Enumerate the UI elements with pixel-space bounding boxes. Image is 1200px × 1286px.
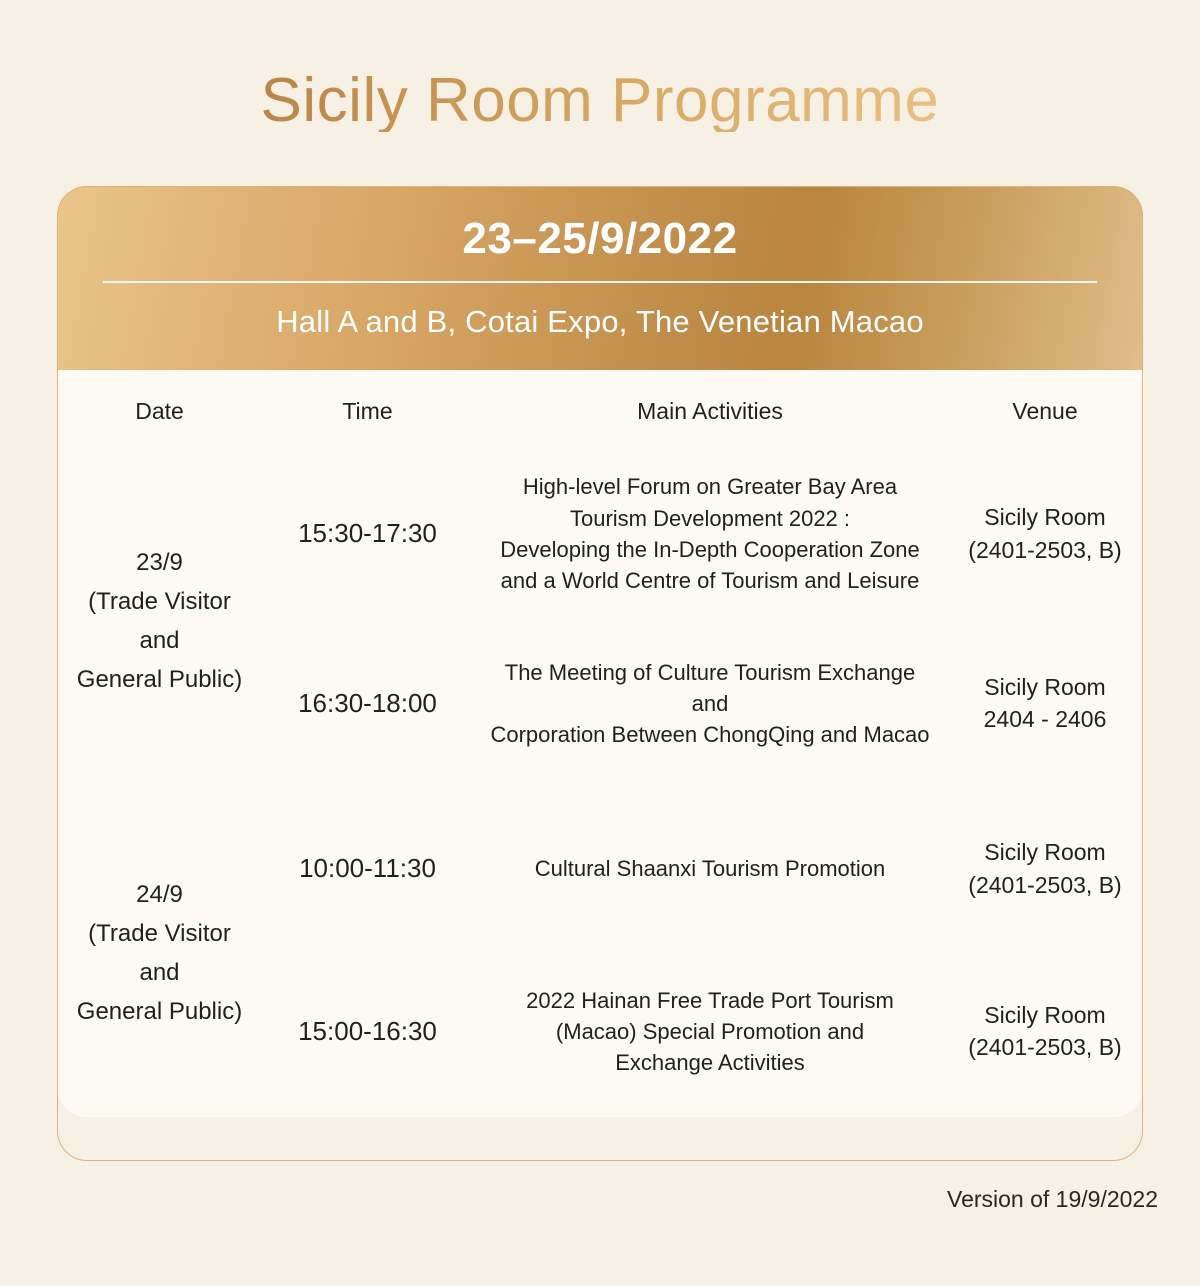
cell-time: 15:30-17:30 — [262, 452, 474, 615]
venue-number: (2401-2503, B) — [955, 869, 1135, 902]
column-header-date: Date — [58, 370, 262, 452]
date-note-line2: and — [66, 954, 253, 993]
table-header-row: Date Time Main Activities Venue — [58, 370, 1144, 452]
activity-line: Developing the In-Depth Cooperation Zone — [490, 534, 930, 565]
venue-name: Sicily Room — [955, 836, 1135, 869]
venue-name: Sicily Room — [955, 671, 1135, 704]
venue-name: Sicily Room — [955, 501, 1135, 534]
activity-line: Tourism Development 2022 : — [490, 503, 930, 534]
schedule-table: Date Time Main Activities Venue 23/9 (Tr… — [57, 370, 1144, 1117]
cell-activity: Cultural Shaanxi Tourism Promotion — [474, 791, 947, 946]
date-day: 23/9 — [66, 544, 253, 583]
date-note-line2: and — [66, 622, 253, 661]
activity-line: 2022 Hainan Free Trade Port Tourism — [490, 985, 930, 1016]
column-header-time: Time — [262, 370, 474, 452]
venue-name: Sicily Room — [955, 999, 1135, 1032]
cell-activity: The Meeting of Culture Tourism Exchange … — [474, 615, 947, 791]
table-head: Date Time Main Activities Venue — [58, 370, 1144, 452]
activity-line: (Macao) Special Promotion and — [490, 1016, 930, 1047]
card-header: 23–25/9/2022 Hall A and B, Cotai Expo, T… — [57, 186, 1143, 370]
date-day: 24/9 — [66, 876, 253, 915]
cell-date-24-9: 24/9 (Trade Visitor and General Public) — [58, 791, 262, 1116]
cell-time: 10:00-11:30 — [262, 791, 474, 946]
column-header-activities: Main Activities — [474, 370, 947, 452]
cell-activity: High-level Forum on Greater Bay Area Tou… — [474, 452, 947, 615]
date-note-line1: (Trade Visitor — [66, 583, 253, 622]
header-divider — [103, 281, 1097, 283]
header-venue: Hall A and B, Cotai Expo, The Venetian M… — [57, 303, 1143, 340]
cell-venue: Sicily Room (2401-2503, B) — [947, 791, 1144, 946]
cell-activity: 2022 Hainan Free Trade Port Tourism (Mac… — [474, 946, 947, 1116]
table-body: 23/9 (Trade Visitor and General Public) … — [58, 452, 1144, 1116]
venue-number: 2404 - 2406 — [955, 703, 1135, 736]
cell-venue: Sicily Room 2404 - 2406 — [947, 615, 1144, 791]
header-dates: 23–25/9/2022 — [57, 214, 1143, 263]
cell-venue: Sicily Room (2401-2503, B) — [947, 946, 1144, 1116]
cell-time: 15:00-16:30 — [262, 946, 474, 1116]
cell-time: 16:30-18:00 — [262, 615, 474, 791]
column-header-venue: Venue — [947, 370, 1144, 452]
date-note-line3: General Public) — [66, 661, 253, 700]
table-row: 24/9 (Trade Visitor and General Public) … — [58, 791, 1144, 946]
cell-venue: Sicily Room (2401-2503, B) — [947, 452, 1144, 615]
activity-line: Cultural Shaanxi Tourism Promotion — [490, 853, 930, 884]
activity-line: and a World Centre of Tourism and Leisur… — [490, 565, 930, 596]
version-label: Version of 19/9/2022 — [947, 1186, 1158, 1213]
table-row: 23/9 (Trade Visitor and General Public) … — [58, 452, 1144, 615]
venue-number: (2401-2503, B) — [955, 534, 1135, 567]
cell-date-23-9: 23/9 (Trade Visitor and General Public) — [58, 452, 262, 791]
page-title: Sicily Room Programme — [0, 0, 1200, 132]
date-note-line1: (Trade Visitor — [66, 915, 253, 954]
programme-card: 23–25/9/2022 Hall A and B, Cotai Expo, T… — [57, 186, 1143, 1117]
activity-line: Exchange Activities — [490, 1047, 930, 1078]
activity-line: High-level Forum on Greater Bay Area — [490, 471, 930, 502]
activity-line: The Meeting of Culture Tourism Exchange … — [490, 657, 930, 719]
date-note-line3: General Public) — [66, 993, 253, 1032]
activity-line: Corporation Between ChongQing and Macao — [490, 719, 930, 750]
venue-number: (2401-2503, B) — [955, 1031, 1135, 1064]
